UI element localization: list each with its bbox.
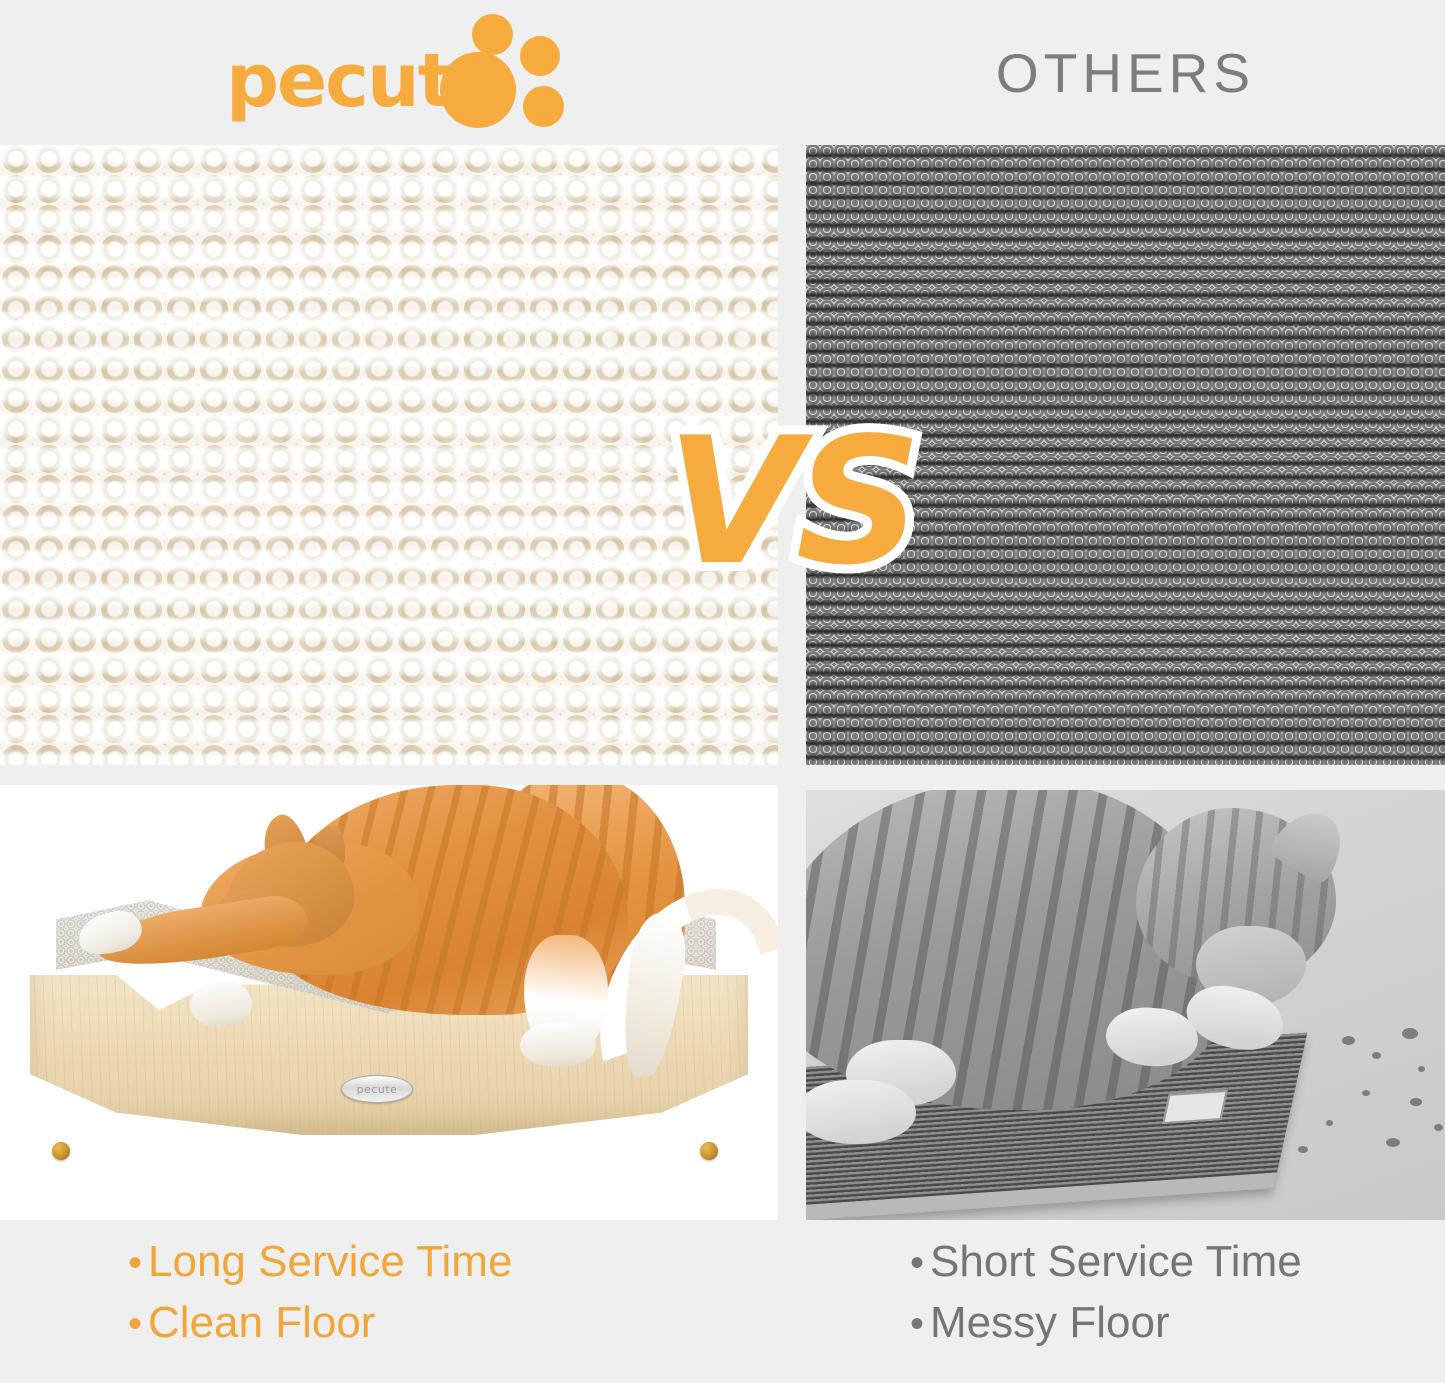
infographic-root: pecute OTHERS VS [0,0,1445,1383]
panel-pecute-product-photo [0,785,778,1220]
bullet-dot-icon: • [910,1243,924,1283]
bullet-dot-icon: • [910,1304,924,1344]
others-heading: OTHERS [806,0,1445,145]
others-heading-label: OTHERS [996,41,1255,105]
floor-debris-8 [1418,1066,1425,1072]
others-drawback-1: Short Service Time [930,1232,1302,1293]
floor-debris-1 [1342,1036,1355,1045]
floor-debris-6 [1326,1120,1333,1126]
paw-toe-1-shape [472,14,513,55]
paw-print-icon [424,14,564,132]
floor-debris-5 [1410,1098,1422,1106]
others-drawback-list: • Short Service Time • Messy Floor [806,1232,1445,1353]
pecute-logo: pecute [214,14,564,132]
others-scene [806,790,1445,1220]
list-item: • Clean Floor [0,1293,778,1354]
floor-debris-10 [1434,1124,1443,1131]
bullet-dot-icon: • [128,1304,142,1344]
list-item: • Short Service Time [806,1232,1445,1293]
floor-debris-7 [1386,1138,1400,1147]
bullet-dot-icon: • [128,1243,142,1283]
pecute-benefit-list: • Long Service Time • Clean Floor [0,1232,778,1353]
screw-right-icon [700,1142,718,1160]
panel-others-product-photo [806,790,1445,1220]
product-metal-badge: pecute [341,1075,413,1103]
paw-toe-2-shape [520,36,560,76]
gray-cat-paw-rear-left [806,1080,916,1144]
vs-badge: VS [636,395,946,610]
vs-label: VS [666,415,915,590]
header: pecute OTHERS [0,0,1445,145]
pecute-scene [0,785,778,1220]
paw-toe-3-shape [523,86,564,127]
others-drawback-2: Messy Floor [930,1293,1170,1354]
cardboard-label-tag [1162,1090,1228,1124]
floor-debris-9 [1298,1146,1308,1153]
product-badge-label: pecute [357,1083,398,1096]
list-item: • Long Service Time [0,1232,778,1293]
brand-block: pecute [0,0,778,145]
list-item: • Messy Floor [806,1293,1445,1354]
pecute-benefit-1: Long Service Time [148,1232,512,1293]
screw-left-icon [52,1142,70,1160]
floor-debris-2 [1372,1052,1381,1059]
orange-cat-second-paw [190,981,252,1027]
paw-pad-shape [440,52,516,128]
floor-debris-3 [1402,1028,1418,1039]
orange-cat-hind-paw [520,1023,596,1067]
pecute-benefit-2: Clean Floor [148,1293,375,1354]
floor-debris-4 [1362,1090,1370,1096]
